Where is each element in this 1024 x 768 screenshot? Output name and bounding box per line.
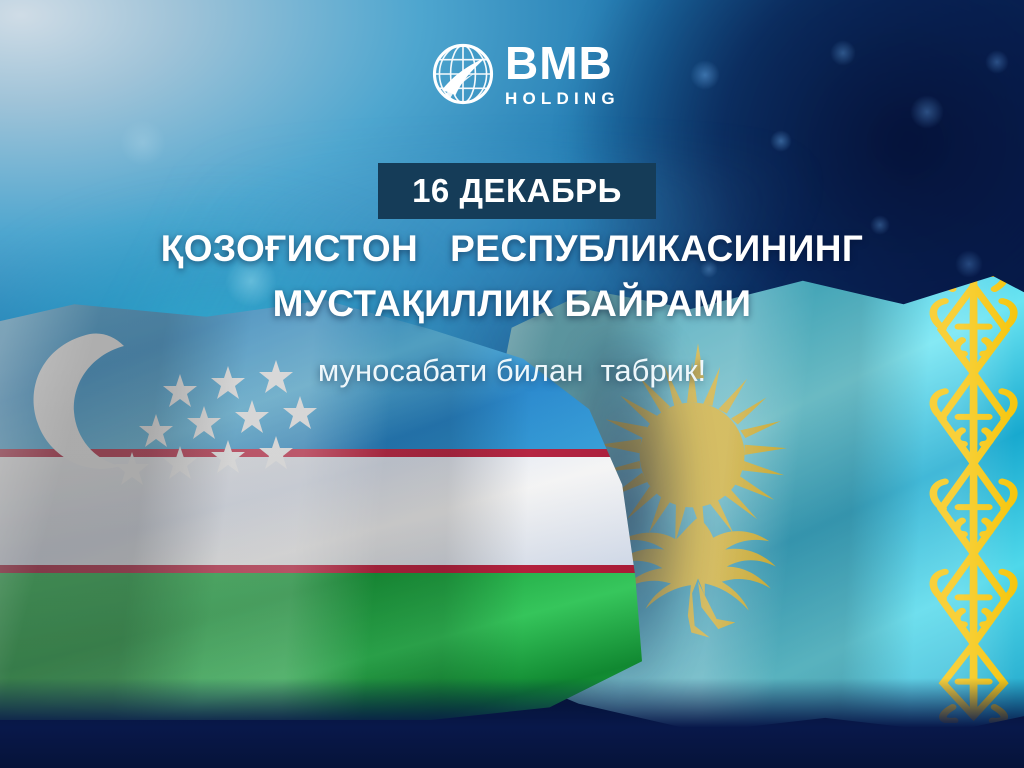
brand-wordmark: BMB HOLDING bbox=[505, 40, 620, 107]
headline-line-2: МУСТАҚИЛЛИК БАЙРАМИ bbox=[0, 283, 1024, 325]
brand-tagline: HOLDING bbox=[505, 90, 620, 107]
bottom-vignette bbox=[0, 678, 1024, 768]
headline-line-1: ҚОЗОҒИСТОН РЕСПУБЛИКАСИНИНГ bbox=[0, 228, 1024, 270]
headline-subline: муносабати билан табрик! bbox=[0, 353, 1024, 389]
poster-canvas: BMB HOLDING 16 ДЕКАБРЬ ҚОЗОҒИСТОН РЕСПУБ… bbox=[0, 0, 1024, 768]
brand-name: BMB bbox=[505, 40, 620, 86]
date-label: 16 ДЕКАБРЬ bbox=[412, 172, 622, 210]
globe-swoosh-icon bbox=[432, 43, 494, 105]
date-badge: 16 ДЕКАБРЬ bbox=[378, 163, 656, 219]
brand-logo[interactable]: BMB HOLDING bbox=[432, 40, 620, 107]
